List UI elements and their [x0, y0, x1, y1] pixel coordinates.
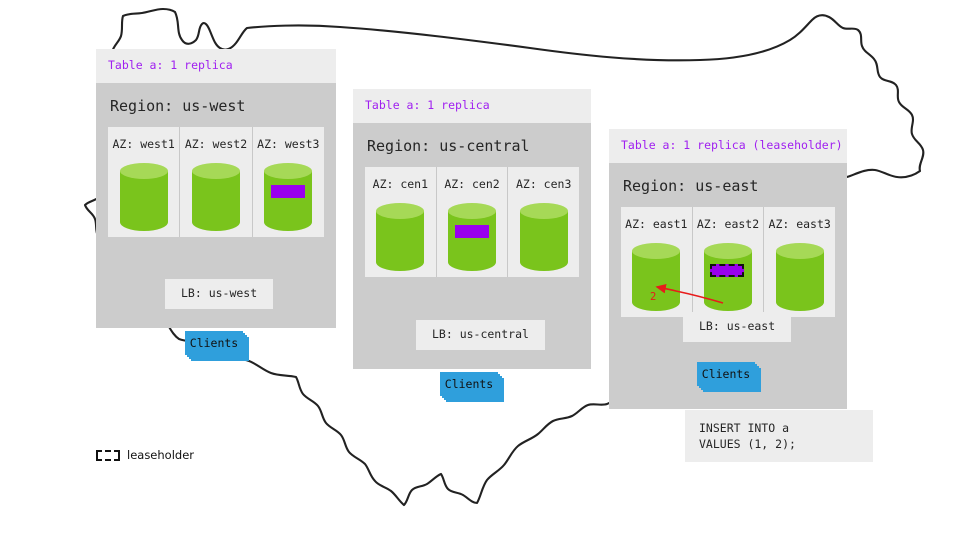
clients-stack-us-central[interactable]: Clients	[440, 372, 498, 396]
node-cylinder-west3[interactable]	[264, 163, 312, 235]
node-cylinder-west1[interactable]	[120, 163, 168, 235]
region-name-us-east: Region: us-east	[609, 163, 847, 207]
az-east1[interactable]: AZ: east1	[621, 207, 692, 317]
cylinder-top	[776, 243, 824, 259]
node-cylinder-east2[interactable]	[704, 243, 752, 315]
sql-statement-box: INSERT INTO a VALUES (1, 2);	[685, 410, 873, 462]
region-title-us-west: Table a: 1 replica	[96, 49, 336, 83]
region-panel-us-west: Table a: 1 replica Region: us-west AZ: w…	[96, 49, 336, 328]
az-west1[interactable]: AZ: west1	[108, 127, 179, 237]
cylinder-body	[632, 251, 680, 311]
cylinder-top	[632, 243, 680, 259]
cylinder-body	[192, 171, 240, 231]
arrow-step-label-2: 2	[650, 291, 656, 303]
region-panel-us-central: Table a: 1 replica Region: us-central AZ…	[353, 89, 591, 369]
az-label-west3: AZ: west3	[253, 137, 324, 151]
cylinder-top	[520, 203, 568, 219]
node-cylinder-east1[interactable]	[632, 243, 680, 315]
cylinder-body	[264, 171, 312, 231]
legend-label-leaseholder: leaseholder	[127, 448, 194, 462]
node-cylinder-west2[interactable]	[192, 163, 240, 235]
replica-marker-west3	[271, 185, 305, 198]
az-label-west1: AZ: west1	[108, 137, 179, 151]
cylinder-body	[776, 251, 824, 311]
clients-label-us-west[interactable]: Clients	[185, 331, 243, 355]
az-west2[interactable]: AZ: west2	[179, 127, 251, 237]
az-east2[interactable]: AZ: east2	[692, 207, 764, 317]
az-west3[interactable]: AZ: west3	[252, 127, 324, 237]
cylinder-body	[448, 211, 496, 271]
region-panel-us-east: Table a: 1 replica (leaseholder) Region:…	[609, 129, 847, 409]
node-cylinder-cen2[interactable]	[448, 203, 496, 275]
load-balancer-us-east[interactable]: LB: us-east	[683, 312, 791, 342]
cylinder-top	[376, 203, 424, 219]
replica-marker-cen2	[455, 225, 489, 238]
az-strip-us-central: AZ: cen1 AZ: cen2 AZ: cen3	[365, 167, 579, 277]
load-balancer-us-central[interactable]: LB: us-central	[416, 320, 545, 350]
az-label-east1: AZ: east1	[621, 217, 692, 231]
az-label-cen1: AZ: cen1	[365, 177, 436, 191]
cylinder-body	[520, 211, 568, 271]
az-cen1[interactable]: AZ: cen1	[365, 167, 436, 277]
dashed-rect-icon	[96, 450, 120, 461]
diagram-canvas: Table a: 1 replica Region: us-west AZ: w…	[0, 0, 960, 540]
az-label-cen3: AZ: cen3	[508, 177, 579, 191]
replica-marker-east2-leaseholder	[710, 264, 744, 277]
cylinder-body	[376, 211, 424, 271]
az-cen2[interactable]: AZ: cen2	[436, 167, 508, 277]
cylinder-top	[704, 243, 752, 259]
region-name-us-central: Region: us-central	[353, 123, 591, 167]
az-strip-us-west: AZ: west1 AZ: west2 AZ: west3	[108, 127, 324, 237]
clients-label-us-central[interactable]: Clients	[440, 372, 498, 396]
legend: leaseholder	[96, 448, 194, 462]
cylinder-top	[448, 203, 496, 219]
load-balancer-us-west[interactable]: LB: us-west	[165, 279, 273, 309]
az-label-east2: AZ: east2	[693, 217, 764, 231]
clients-label-us-east[interactable]: Clients	[697, 362, 755, 386]
cylinder-top	[264, 163, 312, 179]
cylinder-body	[704, 251, 752, 311]
node-cylinder-cen1[interactable]	[376, 203, 424, 275]
cylinder-top	[120, 163, 168, 179]
region-title-us-central: Table a: 1 replica	[353, 89, 591, 123]
az-label-west2: AZ: west2	[180, 137, 251, 151]
az-label-cen2: AZ: cen2	[437, 177, 508, 191]
clients-stack-us-east[interactable]: Clients	[697, 362, 755, 386]
az-east3[interactable]: AZ: east3	[763, 207, 835, 317]
cylinder-body	[120, 171, 168, 231]
node-cylinder-east3[interactable]	[776, 243, 824, 315]
region-title-us-east: Table a: 1 replica (leaseholder)	[609, 129, 847, 163]
az-label-east3: AZ: east3	[764, 217, 835, 231]
region-name-us-west: Region: us-west	[96, 83, 336, 127]
clients-stack-us-west[interactable]: Clients	[185, 331, 243, 355]
node-cylinder-cen3[interactable]	[520, 203, 568, 275]
az-cen3[interactable]: AZ: cen3	[507, 167, 579, 277]
cylinder-top	[192, 163, 240, 179]
